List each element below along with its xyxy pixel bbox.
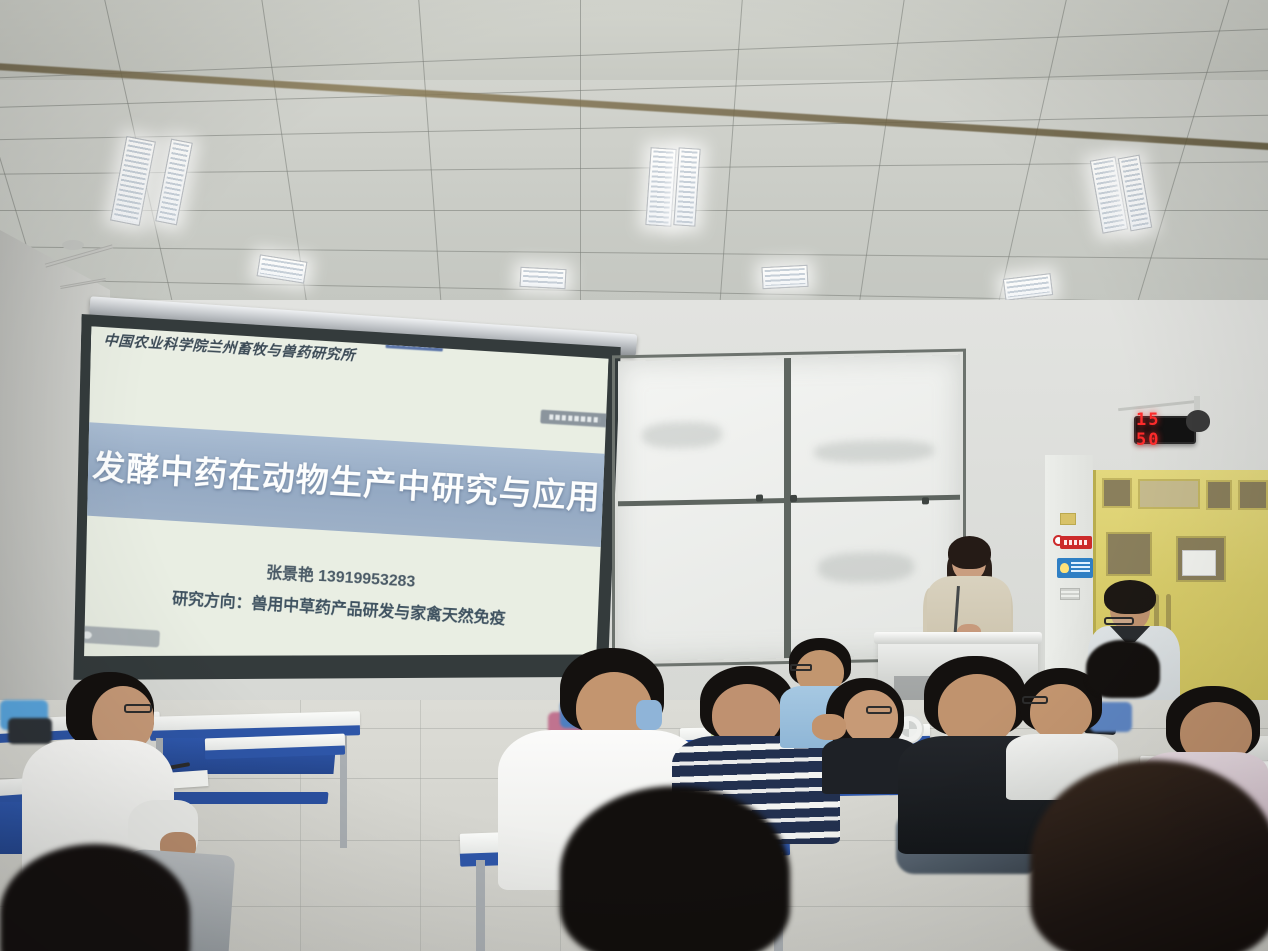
eyeglasses-icon [1022, 696, 1048, 704]
whiteboard-rail-vertical [784, 358, 791, 658]
door-transom-panel [1138, 479, 1200, 509]
whiteboard-marker-clip [756, 494, 763, 501]
audience-head [1030, 684, 1092, 740]
eyeglasses-icon [124, 704, 152, 713]
ceiling-tile-grid [0, 0, 1268, 340]
door-transom-panel [1102, 478, 1132, 508]
face-mask [636, 700, 662, 730]
slide-badge-bottom-left [82, 625, 160, 647]
audience-hand [812, 714, 846, 740]
eyeglasses-icon [790, 664, 812, 671]
projection-screen: 中国农业科学院兰州畜牧与兽药研究所 发酵中药在动物生产中研究与应用 张景艳 13… [71, 300, 632, 705]
whiteboard-marker-clip [922, 497, 929, 504]
warning-sign [1060, 536, 1092, 549]
wall-plate [1060, 513, 1076, 525]
classroom-scene: 中国农业科学院兰州畜牧与兽药研究所 发酵中药在动物生产中研究与应用 张景艳 13… [0, 0, 1268, 951]
bag [8, 718, 52, 744]
door-notice [1182, 550, 1216, 576]
whiteboard-smudge [814, 439, 934, 463]
slide-badge-top-right [540, 410, 609, 428]
info-sign [1057, 558, 1093, 578]
desk-leg [476, 860, 485, 951]
audience-head [844, 690, 898, 744]
whiteboard-smudge [642, 421, 722, 449]
ceiling-smoke-detector [62, 240, 84, 250]
eyeglasses-icon [1104, 617, 1134, 625]
audience-hair [560, 786, 790, 951]
audience-hair [1086, 640, 1160, 698]
ceiling [0, 0, 1268, 340]
whiteboard-marker-clip [790, 495, 797, 502]
desk-shelf [167, 792, 328, 804]
presenter-hair [948, 536, 991, 569]
door-transom-panel [1206, 480, 1232, 510]
wall-vent [1060, 588, 1080, 600]
whiteboard-smudge [818, 552, 914, 584]
presentation-slide: 中国农业科学院兰州畜牧与兽药研究所 发酵中药在动物生产中研究与应用 张景艳 13… [82, 322, 609, 672]
ceiling-camera-icon [1186, 410, 1210, 432]
door-transom-panel [1238, 480, 1268, 510]
clock-time: 15 50 [1136, 410, 1194, 450]
podium-surface [874, 632, 1042, 644]
audience-hair [1030, 760, 1268, 951]
ceiling-lamp [761, 265, 808, 289]
ceiling-lamp [520, 267, 567, 289]
eyeglasses-icon [866, 706, 892, 714]
man-by-door-hair [1104, 580, 1156, 614]
whiteboard [618, 355, 960, 662]
door-panel-left [1106, 532, 1152, 576]
ceiling-lamp [645, 147, 676, 227]
